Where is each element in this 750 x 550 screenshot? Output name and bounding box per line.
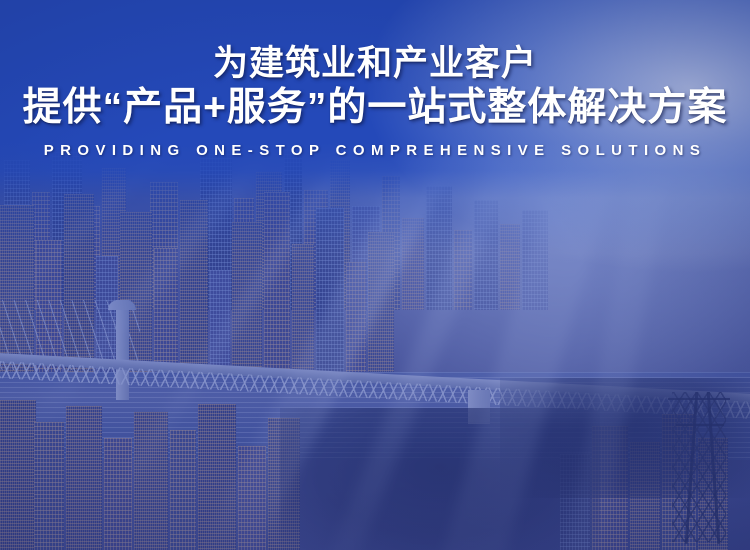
headline-subtitle-english: PROVIDING ONE-STOP COMPREHENSIVE SOLUTIO… (0, 142, 750, 159)
headline-line-2: 提供“产品+服务”的一站式整体解决方案 (0, 88, 750, 129)
headline-block: 为建筑业和产业客户 提供“产品+服务”的一站式整体解决方案 PROVIDING … (0, 46, 750, 159)
headline-line-1: 为建筑业和产业客户 (0, 46, 750, 82)
hero-banner: 为建筑业和产业客户 提供“产品+服务”的一站式整体解决方案 PROVIDING … (0, 0, 750, 550)
